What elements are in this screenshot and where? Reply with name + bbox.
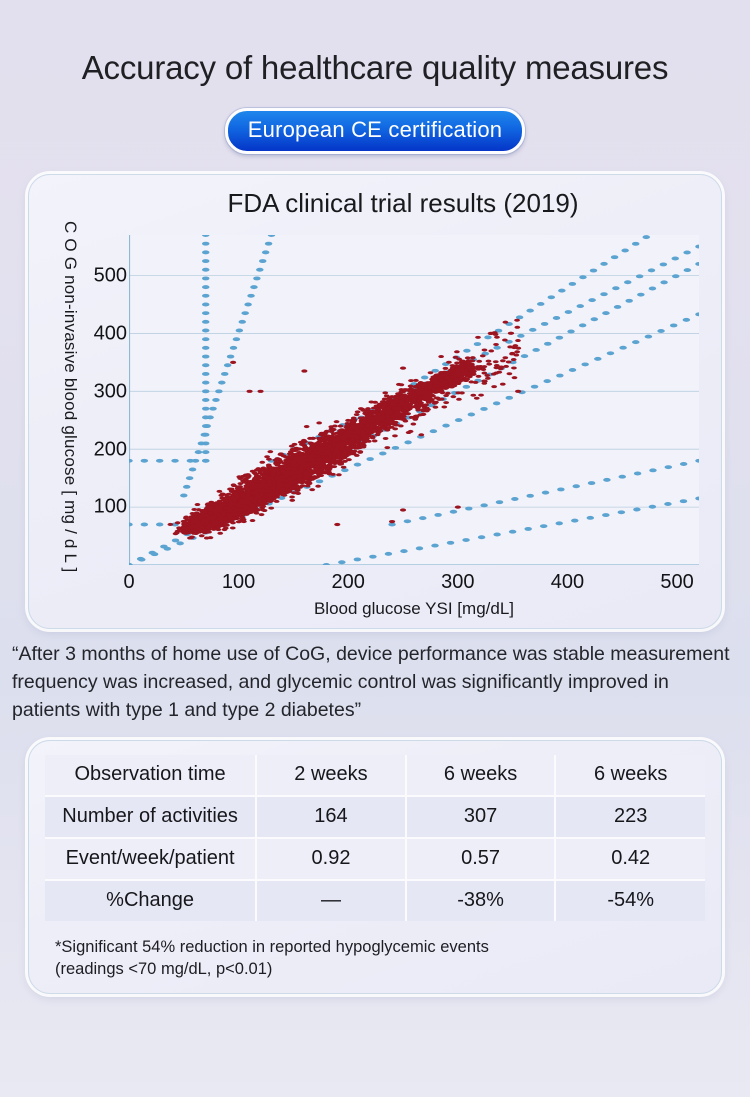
table-row-label: Event/week/patient xyxy=(45,838,256,880)
grid-dot xyxy=(218,381,225,385)
grid-dot xyxy=(341,469,348,473)
grid-dot xyxy=(672,275,679,279)
grid-dot xyxy=(511,497,518,501)
grid-dot xyxy=(657,329,664,333)
clinical-quote: “After 3 months of home use of CoG, devi… xyxy=(8,641,742,724)
grid-dot xyxy=(156,459,163,463)
grid-dot xyxy=(202,346,209,350)
grid-dot xyxy=(430,430,437,434)
grid-dot xyxy=(660,281,667,285)
grid-dot xyxy=(180,494,187,498)
grid-dot xyxy=(478,536,485,540)
grid-dot xyxy=(553,316,560,320)
grid-dot xyxy=(202,294,209,298)
grid-dot xyxy=(600,293,607,297)
footnote-line-2: (readings <70 mg/dL, p<0.01) xyxy=(55,959,705,981)
grid-dot xyxy=(602,311,609,315)
grid-dot xyxy=(183,485,190,489)
x-tick-label: 0 xyxy=(123,571,134,594)
page-title: Accuracy of healthcare quality measures xyxy=(0,0,750,86)
table-cell: 6 weeks xyxy=(406,755,556,796)
table-row-label: Observation time xyxy=(45,755,256,796)
table-cell: 307 xyxy=(406,796,556,838)
grid-dot xyxy=(202,355,209,359)
grid-dot xyxy=(212,398,219,402)
grid-dot xyxy=(680,462,687,466)
grid-dot xyxy=(544,342,551,346)
table-cell: 164 xyxy=(256,796,406,838)
grid-dot xyxy=(588,481,595,485)
grid-dot xyxy=(202,311,209,315)
grid-dot xyxy=(392,446,399,450)
grid-dot xyxy=(224,364,231,368)
x-axis-label: Blood glucose YSI [mg/dL] xyxy=(129,599,699,619)
grid-dot xyxy=(202,320,209,324)
grid-dot xyxy=(202,329,209,333)
grid-dot xyxy=(256,268,263,272)
grid-dot xyxy=(517,334,524,338)
grid-dot xyxy=(493,533,500,537)
grid-dot xyxy=(202,398,209,402)
grid-dot xyxy=(612,287,619,291)
grid-dot xyxy=(202,459,209,463)
grid-dot xyxy=(611,256,618,260)
grid-dot xyxy=(521,354,528,358)
grid-dot xyxy=(591,318,598,322)
table-cell: 0.42 xyxy=(555,838,705,880)
grid-dot xyxy=(680,500,687,504)
grid-dot xyxy=(607,352,614,356)
grid-dot xyxy=(230,346,237,350)
grid-dot xyxy=(625,299,632,303)
grid-dot xyxy=(202,364,209,368)
grid-dot xyxy=(455,418,462,422)
x-tick-label: 400 xyxy=(551,571,584,594)
y-tick-label: 100 xyxy=(94,496,127,519)
grid-dot xyxy=(526,309,533,313)
grid-dot xyxy=(588,298,595,302)
grid-dot xyxy=(496,501,503,505)
grid-dot xyxy=(556,336,563,340)
grid-dot xyxy=(463,349,470,353)
grid-dot xyxy=(227,355,234,359)
grid-dot xyxy=(632,242,639,246)
grid-dot xyxy=(201,433,208,437)
grid-dot xyxy=(540,524,547,528)
grid-dot xyxy=(465,507,472,511)
grid-dot xyxy=(416,547,423,551)
grid-dot xyxy=(198,442,205,446)
grid-dot xyxy=(354,463,361,467)
grid-dot xyxy=(253,277,260,281)
grid-dot xyxy=(379,452,386,456)
grid-dot xyxy=(259,259,266,263)
x-axis-tick-labels: 0100200300400500 xyxy=(129,571,699,599)
grid-dot xyxy=(619,346,626,350)
grid-dot xyxy=(480,504,487,508)
grid-dot xyxy=(665,465,672,469)
grid-dot xyxy=(141,459,148,463)
y-tick-label: 300 xyxy=(94,380,127,403)
results-table-card: Observation time2 weeks6 weeks6 weeksNum… xyxy=(28,740,722,994)
grid-dot xyxy=(579,324,586,328)
grid-dot xyxy=(202,338,209,342)
table-cell: 0.92 xyxy=(256,838,406,880)
grid-dot xyxy=(265,242,272,246)
grid-dot xyxy=(579,276,586,280)
grid-dot xyxy=(241,311,248,315)
chart-card: FDA clinical trial results (2019) C O G … xyxy=(28,174,722,629)
grid-dot xyxy=(493,402,500,406)
grid-dot xyxy=(567,330,574,334)
grid-dot xyxy=(247,294,254,298)
grid-dot xyxy=(556,374,563,378)
grid-dot xyxy=(156,523,163,527)
grid-dot xyxy=(541,322,548,326)
grid-dot xyxy=(600,262,607,266)
grid-dot xyxy=(450,510,457,514)
grid-dot xyxy=(480,407,487,411)
grid-dot xyxy=(215,390,222,394)
grid-dot xyxy=(649,505,656,509)
grid-dot xyxy=(543,379,550,383)
grid-dot xyxy=(151,553,158,557)
grid-dot xyxy=(434,513,441,517)
grid-dot xyxy=(442,424,449,428)
grid-dot xyxy=(565,310,572,314)
grid-dot xyxy=(636,275,643,279)
grid-dot xyxy=(660,263,667,267)
footnote-line-1: *Significant 54% reduction in reported h… xyxy=(55,937,705,959)
grid-dot xyxy=(524,527,531,531)
table-cell: 0.57 xyxy=(406,838,556,880)
grid-dot xyxy=(529,328,536,332)
scatter-plot-area xyxy=(129,235,699,565)
grid-dot xyxy=(569,282,576,286)
y-tick-label: 400 xyxy=(94,322,127,345)
grid-dot xyxy=(557,488,564,492)
grid-dot xyxy=(202,390,209,394)
grid-dot xyxy=(683,318,690,322)
table-cell: 223 xyxy=(555,796,705,838)
y-tick-label: 200 xyxy=(94,438,127,461)
table-cell: 2 weeks xyxy=(256,755,406,796)
grid-dot xyxy=(202,277,209,281)
clarke-error-grid-svg xyxy=(129,235,699,565)
grid-dot xyxy=(202,303,209,307)
grid-dot xyxy=(558,289,565,293)
grid-dot xyxy=(369,555,376,559)
grid-dot xyxy=(621,249,628,253)
grid-dot xyxy=(202,407,209,411)
y-tick-label: 500 xyxy=(94,264,127,287)
grid-dot xyxy=(569,368,576,372)
x-tick-label: 200 xyxy=(332,571,365,594)
grid-dot xyxy=(338,561,345,565)
grid-dot xyxy=(648,269,655,273)
grid-dot xyxy=(587,516,594,520)
grid-dot xyxy=(556,522,563,526)
grid-dot xyxy=(202,242,209,246)
grid-dot xyxy=(404,520,411,524)
grid-dot xyxy=(624,281,631,285)
grid-dot xyxy=(171,459,178,463)
grid-dot xyxy=(164,547,171,551)
grid-dot xyxy=(202,381,209,385)
table-row: Number of activities164307223 xyxy=(45,796,705,838)
grid-dot xyxy=(463,385,470,389)
grid-dot xyxy=(603,478,610,482)
table-row: %Change—-38%-54% xyxy=(45,880,705,921)
grid-dot xyxy=(192,459,199,463)
grid-dot xyxy=(195,450,202,454)
grid-dot xyxy=(618,511,625,515)
grid-dot xyxy=(233,338,240,342)
grid-dot xyxy=(138,558,145,562)
grid-dot xyxy=(670,324,677,328)
chart-title: FDA clinical trial results (2019) xyxy=(43,183,707,221)
grid-dot xyxy=(664,502,671,506)
grid-dot xyxy=(614,305,621,309)
grid-dot xyxy=(202,372,209,376)
grid-dot xyxy=(385,552,392,556)
table-cell: — xyxy=(256,880,406,921)
grid-dot xyxy=(431,544,438,548)
grid-dot xyxy=(421,376,428,380)
grid-dot xyxy=(236,329,243,333)
table-row: Event/week/patient0.920.570.42 xyxy=(45,838,705,880)
grid-dot xyxy=(176,542,183,546)
grid-dot xyxy=(573,485,580,489)
footnote: *Significant 54% reduction in reported h… xyxy=(45,937,705,981)
grid-dot xyxy=(468,413,475,417)
grid-dot xyxy=(531,385,538,389)
grid-dot xyxy=(366,457,373,461)
grid-dot xyxy=(447,541,454,545)
grid-dot xyxy=(189,468,196,472)
table-row-label: Number of activities xyxy=(45,796,256,838)
grid-dot xyxy=(250,285,257,289)
grid-dot xyxy=(209,407,216,411)
european-ce-certification-badge[interactable]: European CE certification xyxy=(225,108,525,154)
grid-dot xyxy=(542,491,549,495)
x-tick-label: 100 xyxy=(222,571,255,594)
grid-dot xyxy=(202,251,209,255)
grid-dot xyxy=(594,357,601,361)
table-cell: 6 weeks xyxy=(555,755,705,796)
grid-dot xyxy=(202,259,209,263)
chart-body: C O G non-invasive blood glucose [ mg / … xyxy=(43,221,707,613)
table-cell: -38% xyxy=(406,880,556,921)
grid-dot xyxy=(493,346,500,350)
grid-dot xyxy=(672,257,679,261)
grid-dot xyxy=(239,320,246,324)
grid-dot xyxy=(526,494,533,498)
grid-dot xyxy=(581,363,588,367)
grid-dot xyxy=(577,304,584,308)
grid-dot xyxy=(186,476,193,480)
results-table: Observation time2 weeks6 weeks6 weeksNum… xyxy=(45,755,705,921)
grid-dot xyxy=(221,372,228,376)
grid-dot xyxy=(506,396,513,400)
grid-dot xyxy=(202,268,209,272)
badge-container: European CE certification xyxy=(0,108,750,154)
grid-dot xyxy=(649,287,656,291)
grid-dot xyxy=(262,251,269,255)
table-row-label: %Change xyxy=(45,880,256,921)
grid-dot xyxy=(484,336,491,340)
grid-dot xyxy=(404,441,411,445)
grid-dot xyxy=(590,269,597,273)
grid-dot xyxy=(202,285,209,289)
grid-dot xyxy=(141,523,148,527)
grid-dot xyxy=(637,293,644,297)
grid-dot xyxy=(602,513,609,517)
grid-dot xyxy=(683,251,690,255)
grid-dot xyxy=(462,538,469,542)
y-axis-tick-labels: 100200300400500 xyxy=(77,235,127,565)
grid-dot xyxy=(244,303,251,307)
grid-dot xyxy=(419,516,426,520)
table-row: Observation time2 weeks6 weeks6 weeks xyxy=(45,755,705,796)
x-tick-label: 500 xyxy=(660,571,693,594)
grid-dot xyxy=(400,549,407,553)
grid-dot xyxy=(316,480,323,484)
grid-dot xyxy=(619,475,626,479)
grid-dot xyxy=(474,342,481,346)
grid-dot xyxy=(203,424,210,428)
grid-dot xyxy=(354,558,361,562)
x-tick-label: 300 xyxy=(441,571,474,594)
grid-dot xyxy=(649,469,656,473)
grid-dot xyxy=(684,268,691,272)
grid-dot xyxy=(206,416,213,420)
grid-dot xyxy=(571,519,578,523)
grid-dot xyxy=(537,302,544,306)
grid-dot xyxy=(645,335,652,339)
grid-dot xyxy=(532,348,539,352)
table-cell: -54% xyxy=(555,880,705,921)
grid-dot xyxy=(643,235,650,239)
grid-dot xyxy=(548,296,555,300)
grid-dot xyxy=(634,472,641,476)
grid-dot xyxy=(509,530,516,534)
grid-dot xyxy=(202,450,209,454)
grid-dot xyxy=(632,340,639,344)
grid-dot xyxy=(633,508,640,512)
